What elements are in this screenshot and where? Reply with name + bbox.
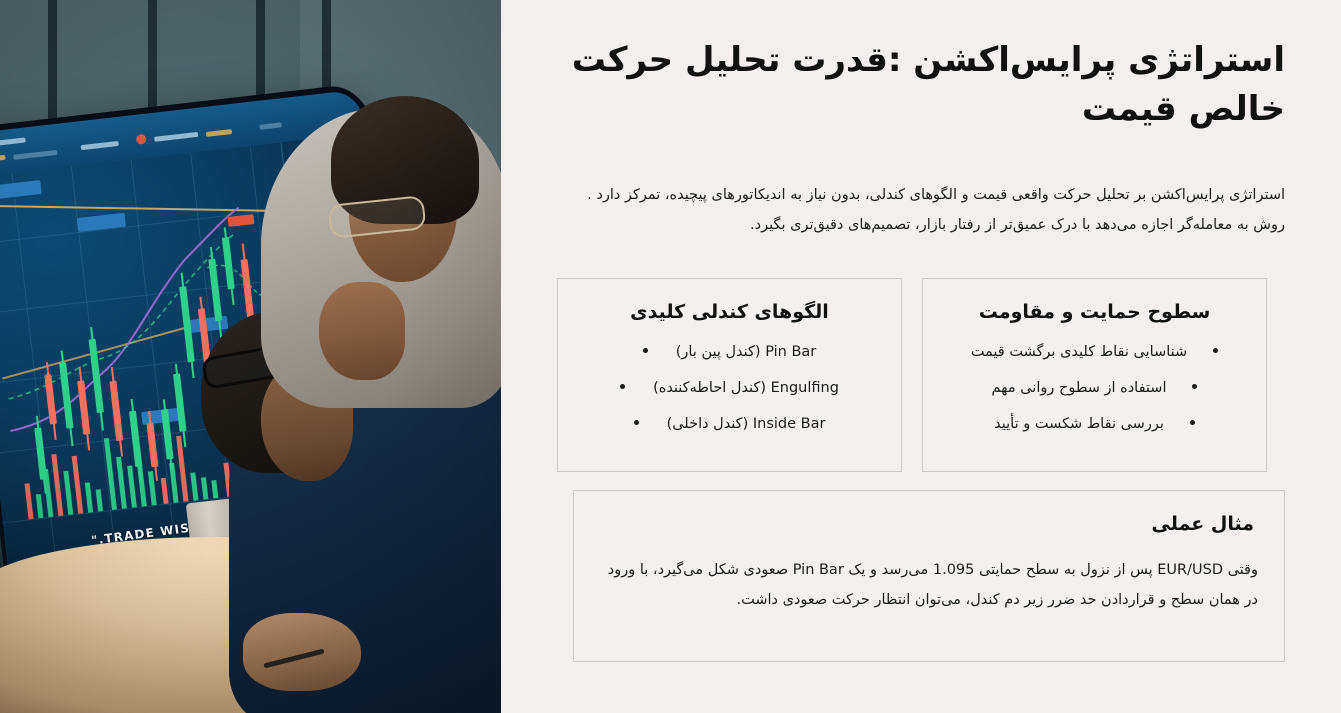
list-item: Pin Bar (کندل پین بار) <box>580 341 879 363</box>
card-practical-example-body: وقتی EUR/USD پس از نزول به سطح حمایتی 1.… <box>600 555 1258 615</box>
trader-foreground-hand <box>243 613 361 691</box>
bullet-dot-icon <box>620 384 625 389</box>
price-tag <box>77 213 126 232</box>
content-column: استراتژی پرایس‌اکشن :قدرت تحلیل حرکت خال… <box>501 0 1341 713</box>
bullet-dot-icon <box>1190 420 1195 425</box>
trading-desk-photo: "TRADE WISELY." <box>0 0 501 713</box>
bullet-dot-icon <box>1192 384 1197 389</box>
bullet-dot-icon <box>643 348 648 353</box>
slide-root: استراتژی پرایس‌اکشن :قدرت تحلیل حرکت خال… <box>0 0 1341 713</box>
card-practical-example-title: مثال عملی <box>600 509 1258 539</box>
card-candle-patterns-title: الگوهای کندلی کلیدی <box>580 297 879 327</box>
list-item-label: Pin Bar (کندل پین بار) <box>676 344 817 360</box>
list-item-label: Inside Bar (کندل داخلی) <box>667 416 826 432</box>
list-item-label: استفاده از سطوح روانی مهم <box>992 380 1167 396</box>
page-title: استراتژی پرایس‌اکشن :قدرت تحلیل حرکت خال… <box>557 36 1285 134</box>
card-practical-example: مثال عملی وقتی EUR/USD پس از نزول به سطح… <box>573 490 1285 662</box>
support-resistance-list: شناسایی نقاط کلیدی برگشت قیمت استفاده از… <box>945 341 1244 435</box>
bullet-dot-icon <box>634 420 639 425</box>
list-item: بررسی نقاط شکست و تأیید <box>945 413 1244 435</box>
trader-background-hand <box>319 282 405 380</box>
card-candle-patterns: الگوهای کندلی کلیدی Pin Bar (کندل پین با… <box>557 278 902 472</box>
bullet-dot-icon <box>1213 348 1218 353</box>
list-item-label: Engulfing (کندل احاطه‌کننده) <box>653 380 839 396</box>
list-item: Inside Bar (کندل داخلی) <box>580 413 879 435</box>
list-item-label: بررسی نقاط شکست و تأیید <box>994 416 1164 432</box>
symbol-tag <box>0 180 42 202</box>
card-support-resistance-title: سطوح حمایت و مقاومت <box>945 297 1244 327</box>
candle-patterns-list: Pin Bar (کندل پین بار) Engulfing (کندل ا… <box>580 341 879 435</box>
intro-paragraph: استراتژی پرایس‌اکشن بر تحلیل حرکت واقعی … <box>557 180 1285 240</box>
photo-panel: "TRADE WISELY." <box>0 0 501 713</box>
list-item-label: شناسایی نقاط کلیدی برگشت قیمت <box>971 344 1187 360</box>
list-item: Engulfing (کندل احاطه‌کننده) <box>580 377 879 399</box>
list-item: استفاده از سطوح روانی مهم <box>945 377 1244 399</box>
card-support-resistance: سطوح حمایت و مقاومت شناسایی نقاط کلیدی ب… <box>922 278 1267 472</box>
list-item: شناسایی نقاط کلیدی برگشت قیمت <box>945 341 1244 363</box>
alert-tag <box>228 214 255 227</box>
card-row: الگوهای کندلی کلیدی Pin Bar (کندل پین با… <box>557 278 1285 472</box>
